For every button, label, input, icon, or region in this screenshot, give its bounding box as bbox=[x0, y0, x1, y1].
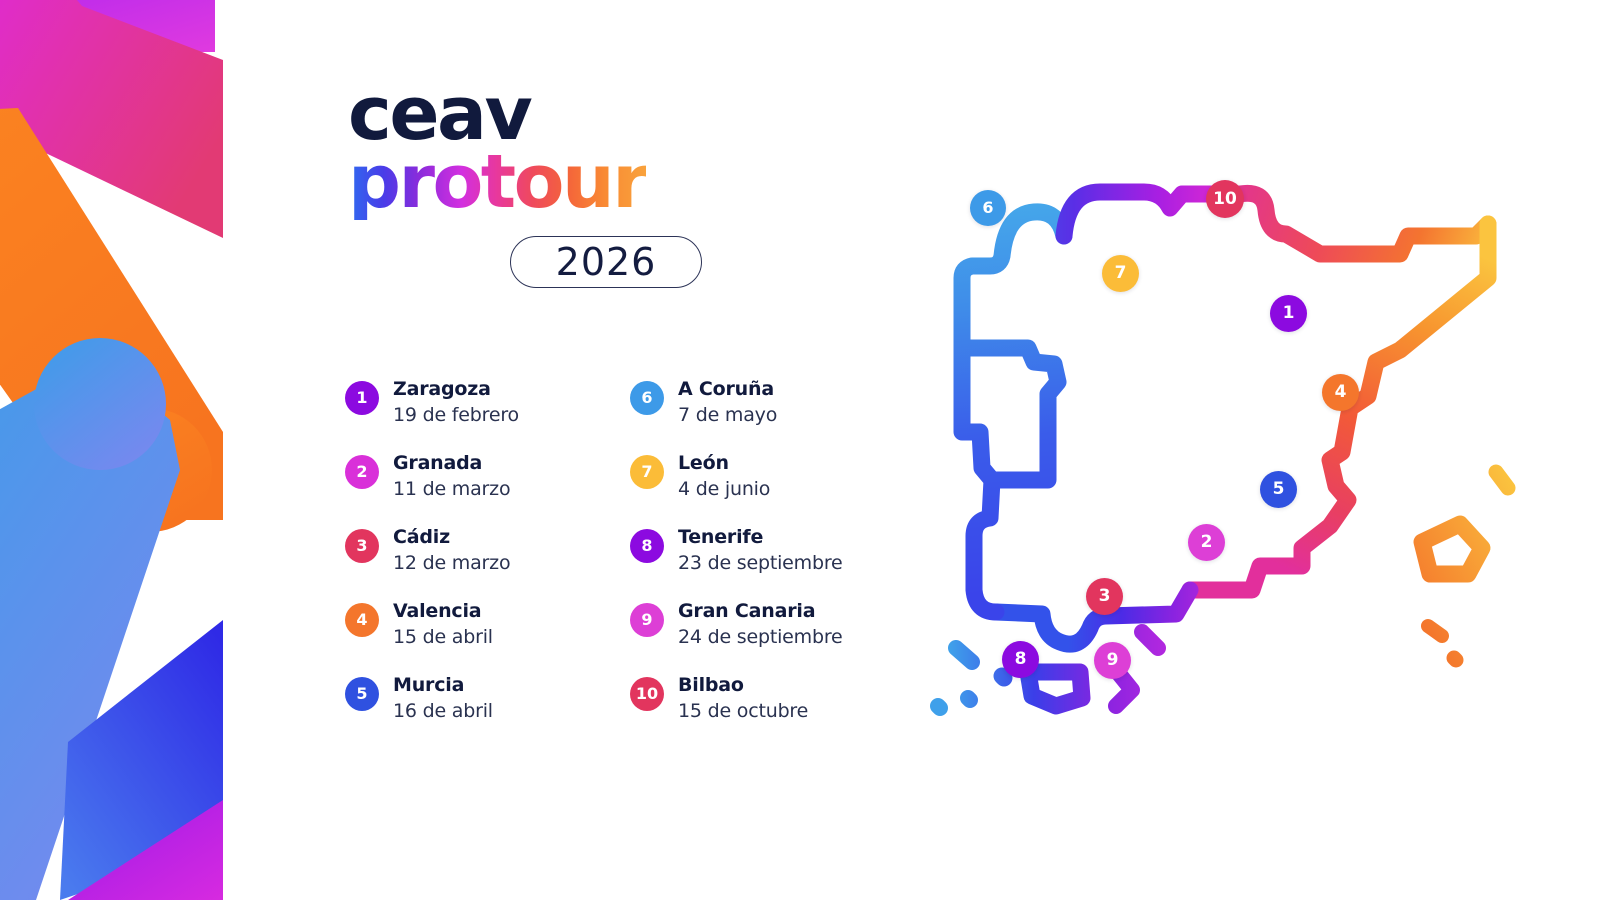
legend-text: Cádiz12 de marzo bbox=[393, 526, 510, 575]
legend-city-name: Cádiz bbox=[393, 526, 510, 550]
map-path-northwest bbox=[962, 212, 1064, 348]
legend-date: 4 de junio bbox=[678, 477, 770, 502]
year-badge: 2026 bbox=[510, 236, 702, 288]
legend-item-tenerife[interactable]: 8Tenerife23 de septiembre bbox=[630, 526, 915, 600]
legend-item-murcia[interactable]: 5Murcia16 de abril bbox=[345, 674, 630, 748]
legend-badge-7: 7 bbox=[630, 455, 664, 489]
legend-date: 16 de abril bbox=[393, 699, 493, 724]
legend-city-name: A Coruña bbox=[678, 378, 777, 402]
map-island-gomera bbox=[968, 698, 970, 700]
legend-text: Murcia16 de abril bbox=[393, 674, 493, 723]
map-marker-7[interactable]: 7 bbox=[1102, 255, 1139, 292]
legend-badge-6: 6 bbox=[630, 381, 664, 415]
legend-city-name: Granada bbox=[393, 452, 510, 476]
map-island-formentera bbox=[1454, 658, 1456, 660]
map-island-lanzarote bbox=[1142, 632, 1158, 648]
legend-city-name: Bilbao bbox=[678, 674, 808, 698]
legend-text: A Coruña7 de mayo bbox=[678, 378, 777, 427]
map-island-mallorca bbox=[1422, 524, 1482, 574]
map-island-lapalma bbox=[956, 648, 972, 662]
map-island-menorca bbox=[1496, 472, 1508, 488]
legend-badge-8: 8 bbox=[630, 529, 664, 563]
legend-text: León4 de junio bbox=[678, 452, 770, 501]
legend-date: 15 de octubre bbox=[678, 699, 808, 724]
map-marker-10[interactable]: 10 bbox=[1206, 180, 1244, 218]
legend-item-zaragoza[interactable]: 1Zaragoza19 de febrero bbox=[345, 378, 630, 452]
legend-badge-2: 2 bbox=[345, 455, 379, 489]
legend-badge-3: 3 bbox=[345, 529, 379, 563]
legend-text: Gran Canaria24 de septiembre bbox=[678, 600, 843, 649]
legend-date: 23 de septiembre bbox=[678, 551, 843, 576]
map-marker-5[interactable]: 5 bbox=[1260, 471, 1297, 508]
deco-shape-lightblue-cap bbox=[34, 338, 166, 470]
legend-text: Granada11 de marzo bbox=[393, 452, 510, 501]
legend-badge-1: 1 bbox=[345, 381, 379, 415]
year-label: 2026 bbox=[556, 243, 657, 281]
legend-item-león[interactable]: 7León4 de junio bbox=[630, 452, 915, 526]
legend-date: 19 de febrero bbox=[393, 403, 519, 428]
map-path-border-inner-2 bbox=[992, 450, 1048, 480]
legend-city-name: Zaragoza bbox=[393, 378, 519, 402]
legend-item-a-coruña[interactable]: 6A Coruña7 de mayo bbox=[630, 378, 915, 452]
legend-city-name: Tenerife bbox=[678, 526, 843, 550]
brand-logo: ceav protour 2026 bbox=[348, 78, 768, 288]
legend-date: 7 de mayo bbox=[678, 403, 777, 428]
decorative-side-band bbox=[0, 0, 223, 900]
legend-badge-9: 9 bbox=[630, 603, 664, 637]
decorative-shapes-svg bbox=[0, 0, 223, 900]
legend-item-valencia[interactable]: 4Valencia15 de abril bbox=[345, 600, 630, 674]
map-island-hierro bbox=[938, 706, 940, 708]
map-marker-3[interactable]: 3 bbox=[1086, 578, 1123, 615]
legend-text: Valencia15 de abril bbox=[393, 600, 493, 649]
map-path-northeast bbox=[1240, 193, 1488, 254]
legend-item-granada[interactable]: 2Granada11 de marzo bbox=[345, 452, 630, 526]
tour-stops-legend: 1Zaragoza19 de febrero6A Coruña7 de mayo… bbox=[345, 378, 905, 748]
map-marker-9[interactable]: 9 bbox=[1094, 642, 1131, 679]
legend-date: 24 de septiembre bbox=[678, 625, 843, 650]
legend-text: Bilbao15 de octubre bbox=[678, 674, 808, 723]
map-marker-1[interactable]: 1 bbox=[1270, 295, 1307, 332]
legend-city-name: Murcia bbox=[393, 674, 493, 698]
legend-badge-10: 10 bbox=[630, 677, 664, 711]
brand-name-protour: protour bbox=[348, 145, 646, 220]
legend-badge-4: 4 bbox=[345, 603, 379, 637]
map-marker-6[interactable]: 6 bbox=[970, 190, 1006, 226]
map-island-grancanaria bbox=[1028, 672, 1082, 706]
legend-date: 15 de abril bbox=[393, 625, 493, 650]
map-marker-8[interactable]: 8 bbox=[1002, 641, 1039, 678]
legend-badge-5: 5 bbox=[345, 677, 379, 711]
legend-date: 12 de marzo bbox=[393, 551, 510, 576]
map-island-ibiza bbox=[1428, 626, 1442, 636]
legend-date: 11 de marzo bbox=[393, 477, 510, 502]
poster-canvas: ceav protour 2026 1Zaragoza19 de febrero… bbox=[0, 0, 1600, 900]
legend-item-gran-canaria[interactable]: 9Gran Canaria24 de septiembre bbox=[630, 600, 915, 674]
legend-item-bilbao[interactable]: 10Bilbao15 de octubre bbox=[630, 674, 915, 748]
spain-outline-group bbox=[938, 192, 1508, 708]
map-marker-4[interactable]: 4 bbox=[1322, 374, 1359, 411]
map-island-tenerife bbox=[1002, 676, 1004, 678]
map-marker-2[interactable]: 2 bbox=[1188, 524, 1225, 561]
legend-item-cádiz[interactable]: 3Cádiz12 de marzo bbox=[345, 526, 630, 600]
legend-text: Tenerife23 de septiembre bbox=[678, 526, 843, 575]
legend-city-name: Valencia bbox=[393, 600, 493, 624]
legend-city-name: León bbox=[678, 452, 770, 476]
legend-text: Zaragoza19 de febrero bbox=[393, 378, 519, 427]
legend-city-name: Gran Canaria bbox=[678, 600, 843, 624]
